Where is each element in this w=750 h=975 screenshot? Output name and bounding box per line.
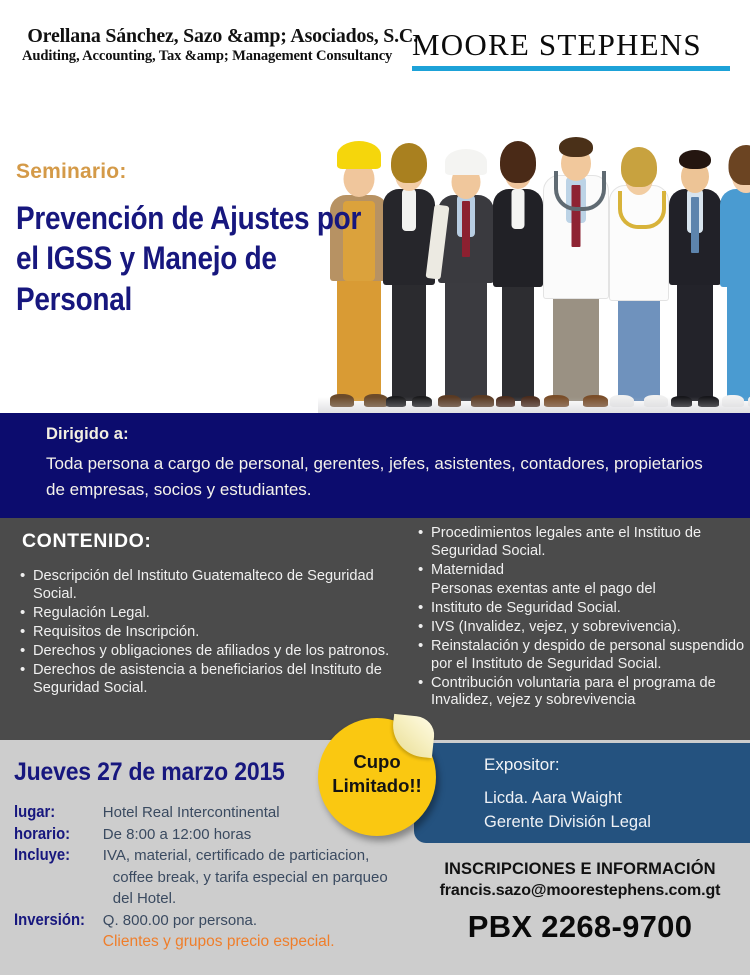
speaker-details: Licda. Aara Waight Gerente División Lega… <box>484 787 651 835</box>
registration-info: INSCRIPCIONES E INFORMACIÓN francis.sazo… <box>410 860 750 945</box>
list-item: Derechos y obligaciones de afiliados y d… <box>18 643 398 661</box>
speaker-role: Gerente División Legal <box>484 811 651 835</box>
hair <box>679 150 711 169</box>
seminar-flyer: Orellana Sánchez, Sazo &amp; Asociados, … <box>0 0 750 975</box>
detail-label: lugar: <box>14 803 94 825</box>
title-block: Seminario: Prevención de Ajustes por el … <box>16 160 366 319</box>
special-price-note: Clientes y grupos precio especial. <box>103 932 394 954</box>
legs <box>445 273 487 401</box>
hair <box>621 147 657 187</box>
audience-band: Dirigido a: Toda persona a cargo de pers… <box>0 413 750 518</box>
stethoscope-icon <box>618 191 666 229</box>
professionals-group-photo <box>318 95 750 413</box>
photo-person-doctor-male <box>540 101 612 407</box>
content-section: CONTENIDO: Descripción del Instituto Gua… <box>0 518 750 740</box>
hair <box>391 143 427 183</box>
audience-text: Toda persona a cargo de personal, gerent… <box>46 451 726 504</box>
table-row: Incluye:IVA, material, certificado de pa… <box>14 846 394 868</box>
list-item: Derechos de asistencia a beneficiarios d… <box>18 662 398 698</box>
event-date: Jueves 27 de marzo 2015 <box>14 758 285 787</box>
badge-line-1: Cupo <box>318 750 436 774</box>
detail-value: del Hotel. <box>103 889 394 911</box>
speaker-panel: Expositor: Licda. Aara Waight Gerente Di… <box>414 743 750 843</box>
content-heading: CONTENIDO: <box>22 530 152 553</box>
detail-label <box>14 868 94 890</box>
brand-accent-rule <box>412 66 730 71</box>
detail-label: Incluye: <box>14 846 94 868</box>
table-row: Clientes y grupos precio especial. <box>14 932 394 954</box>
speaker-name: Licda. Aara Waight <box>484 787 651 811</box>
detail-value: Q. 800.00 por persona. <box>103 911 394 933</box>
badge-text: Cupo Limitado!! <box>318 750 436 797</box>
detail-value: coffee break, y tarifa especial en parqu… <box>103 868 394 890</box>
scrubs-top <box>720 189 750 287</box>
necktie <box>462 201 470 257</box>
necktie <box>691 197 699 253</box>
detail-label-empty <box>14 932 103 954</box>
photo-floor-shadow <box>318 397 750 413</box>
legs <box>618 289 660 401</box>
blouse <box>512 189 525 229</box>
list-item: Regulación Legal. <box>18 605 398 623</box>
speaker-label: Expositor: <box>484 755 560 775</box>
list-item: Procedimientos legales ante el Instituo … <box>416 525 746 561</box>
page-title: Prevención de Ajustes por el IGSS y Mane… <box>16 198 363 319</box>
photo-person-businesswoman-b <box>490 107 546 407</box>
firm-tagline: Auditing, Accounting, Tax &amp; Manageme… <box>22 48 382 64</box>
hard-hat-icon <box>445 149 487 175</box>
photo-person-architect <box>434 119 498 407</box>
photo-person-doctor-female <box>606 123 672 407</box>
moore-stephens-logo: MOORE STEPHENS <box>412 28 732 71</box>
header-logos: Orellana Sánchez, Sazo &amp; Asociados, … <box>0 0 750 95</box>
photo-person-businessman <box>666 109 724 407</box>
detail-label: Inversión: <box>14 911 94 933</box>
table-row: coffee break, y tarifa especial en parqu… <box>14 868 394 890</box>
firm-name: Orellana Sánchez, Sazo &amp; Asociados, … <box>27 26 376 47</box>
list-item: Reinstalación y despido de personal susp… <box>416 638 746 674</box>
audience-heading: Dirigido a: <box>46 425 129 444</box>
photo-person-nurse <box>718 117 750 407</box>
detail-label: horario: <box>14 825 94 847</box>
detail-label <box>14 889 94 911</box>
list-item: IVS (Invalidez, vejez, y sobrevivencia). <box>416 619 746 637</box>
legs <box>553 289 599 401</box>
list-item: Maternidad <box>416 562 746 580</box>
legs <box>392 273 426 401</box>
list-item: Descripción del Instituto Guatemalteco d… <box>18 568 398 604</box>
list-item: Requisitos de Inscripción. <box>18 624 398 642</box>
legs <box>727 277 750 401</box>
cupo-limitado-badge: Cupo Limitado!! <box>318 718 436 836</box>
list-item: Instituto de Seguridad Social. <box>416 600 746 618</box>
hair <box>559 137 593 157</box>
detail-value: IVA, material, certificado de particiaci… <box>103 846 394 868</box>
legs <box>677 275 713 401</box>
badge-line-2: Limitado!! <box>318 774 436 798</box>
registration-heading: INSCRIPCIONES E INFORMACIÓN <box>410 860 750 879</box>
hair <box>500 141 536 183</box>
table-row: Inversión:Q. 800.00 por persona. <box>14 911 394 933</box>
seminario-label: Seminario: <box>16 160 366 184</box>
table-row: del Hotel. <box>14 889 394 911</box>
registration-phone[interactable]: PBX 2268-9700 <box>410 909 750 945</box>
network-brand-name: MOORE STEPHENS <box>412 28 732 62</box>
blouse <box>402 189 416 231</box>
legs <box>502 275 534 401</box>
list-item: Contribución voluntaria para el programa… <box>416 675 746 711</box>
hair <box>729 145 750 185</box>
registration-email[interactable]: francis.sazo@moorestephens.com.gt <box>410 882 750 900</box>
content-list-right: Procedimientos legales ante el Instituo … <box>416 525 746 711</box>
list-item: Personas exentas ante el pago del <box>416 581 746 599</box>
firm-logo: Orellana Sánchez, Sazo &amp; Asociados, … <box>22 26 382 64</box>
content-list-left: Descripción del Instituto Guatemalteco d… <box>18 568 398 699</box>
